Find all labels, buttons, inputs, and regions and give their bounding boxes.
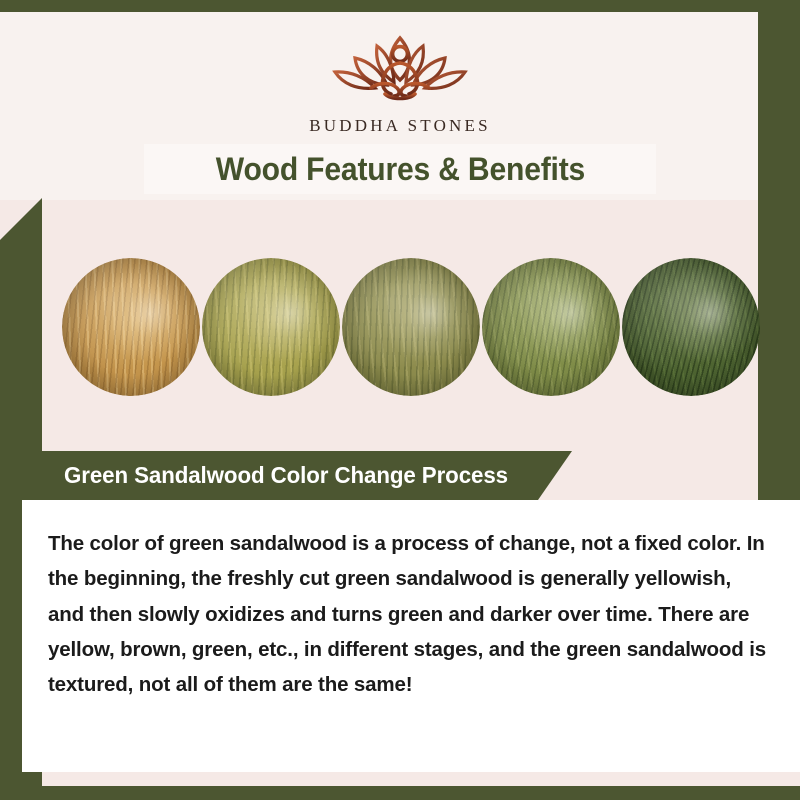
brand-logo: BUDDHA STONES [0,22,800,136]
bead-shading [622,258,760,396]
bead-color-stages [0,252,800,410]
bead-stage-3 [342,258,480,396]
section-banner-title: Green Sandalwood Color Change Process [64,462,508,489]
description-text: The color of green sandalwood is a proce… [22,500,800,702]
section-banner: Green Sandalwood Color Change Process [42,451,572,500]
bead-shading [482,258,620,396]
page-title: Wood Features & Benefits [215,153,584,185]
title-banner: Wood Features & Benefits [144,144,656,194]
bead-stage-1 [62,258,200,396]
bead-stage-4 [482,258,620,396]
brand-name: BUDDHA STONES [0,116,800,136]
infographic-page: BUDDHA STONES Wood Features & Benefits G… [0,0,800,800]
bead-shading [202,258,340,396]
lotus-meditation-icon [305,22,495,112]
bead-stage-5 [622,258,760,396]
bead-shading [342,258,480,396]
description-card: The color of green sandalwood is a proce… [22,500,800,772]
frame-border-top [0,0,800,12]
bead-shading [62,258,200,396]
frame-border-bottom [0,786,800,800]
bead-stage-2 [202,258,340,396]
